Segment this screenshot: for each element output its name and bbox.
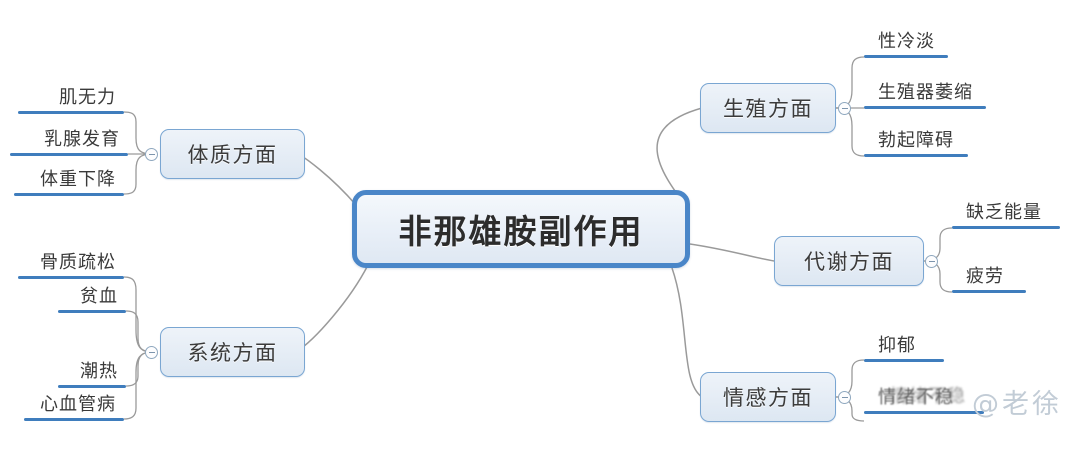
leaf-underline (864, 55, 948, 58)
branch-node-daixie[interactable]: 代谢方面 (774, 236, 924, 286)
collapse-handle-tizhi[interactable] (145, 148, 158, 161)
collapse-handle-xitong[interactable] (145, 346, 158, 359)
leaf-item[interactable]: 潮热 (58, 354, 126, 388)
leaf-label: 抑郁 (878, 331, 916, 357)
leaf-label: 生殖器萎缩 (878, 78, 973, 104)
leaf-underline (18, 111, 124, 114)
link-center-qinggan (672, 268, 702, 397)
leaf-item[interactable]: 骨质疏松 (18, 245, 124, 279)
branch-node-qinggan-label: 情感方面 (723, 382, 813, 412)
link-center-xitong (296, 265, 368, 352)
leaf-label-ghost: 情绪不稳 (890, 382, 966, 408)
leaf-label: 体重下降 (40, 165, 116, 191)
leaf-item[interactable]: 体重下降 (14, 162, 124, 196)
leaf-label: 贫血 (80, 282, 118, 308)
leaf-item[interactable]: 疲劳 (952, 260, 1026, 293)
branch-node-qinggan[interactable]: 情感方面 (700, 372, 836, 422)
link-shengzhi-leaf3 (836, 108, 864, 156)
leaf-underline (864, 411, 984, 414)
leaf-item[interactable]: 勃起障碍 (864, 124, 968, 157)
mindmap-canvas: 非那雄胺副作用 体质方面 肌无力 乳腺发育 体重下降 系统方面 骨质疏松 贫血 … (0, 0, 1080, 450)
link-center-tizhi (300, 155, 356, 205)
leaf-underline (14, 193, 124, 196)
branch-node-xitong-label: 系统方面 (188, 337, 278, 367)
leaf-label: 性冷淡 (878, 27, 935, 53)
leaf-underline (58, 310, 126, 313)
leaf-item[interactable]: 生殖器萎缩 (864, 76, 986, 109)
central-node[interactable]: 非那雄胺副作用 (352, 190, 690, 268)
leaf-label: 肌无力 (59, 83, 116, 109)
leaf-underline (952, 226, 1060, 229)
leaf-item[interactable]: 缺乏能量 (952, 196, 1060, 229)
leaf-label: 心血管病 (40, 390, 116, 416)
leaf-underline (952, 290, 1026, 293)
leaf-label: 疲劳 (966, 262, 1004, 288)
watermark: @老徐 (972, 382, 1062, 421)
collapse-handle-shengzhi[interactable] (838, 102, 851, 115)
branch-node-shengzhi[interactable]: 生殖方面 (700, 83, 836, 133)
leaf-underline (864, 106, 986, 109)
leaf-item[interactable]: 情绪不稳 情绪不稳 (864, 382, 984, 414)
leaf-underline (864, 359, 944, 362)
leaf-item[interactable]: 性冷淡 (864, 25, 948, 58)
leaf-item[interactable]: 抑郁 (864, 330, 944, 362)
leaf-item[interactable]: 乳腺发育 (10, 122, 128, 156)
branch-node-shengzhi-label: 生殖方面 (723, 93, 813, 123)
branch-node-daixie-label: 代谢方面 (804, 246, 894, 276)
leaf-label: 缺乏能量 (966, 198, 1042, 224)
branch-node-xitong[interactable]: 系统方面 (160, 327, 305, 377)
leaf-underline (10, 153, 128, 156)
leaf-label: 骨质疏松 (40, 248, 116, 274)
central-node-label: 非那雄胺副作用 (399, 205, 644, 253)
leaf-underline (24, 418, 124, 421)
branch-node-tizhi-label: 体质方面 (188, 139, 278, 169)
collapse-handle-qinggan[interactable] (838, 391, 851, 404)
leaf-item[interactable]: 肌无力 (18, 80, 124, 114)
leaf-label: 勃起障碍 (878, 126, 954, 152)
branch-node-tizhi[interactable]: 体质方面 (160, 129, 305, 179)
collapse-handle-daixie[interactable] (925, 255, 938, 268)
link-center-daixie (690, 244, 774, 261)
leaf-item[interactable]: 心血管病 (24, 387, 124, 421)
leaf-underline (864, 154, 968, 157)
leaf-label: 潮热 (80, 357, 118, 383)
leaf-label: 乳腺发育 (44, 125, 120, 151)
link-shengzhi-leaf1 (836, 57, 864, 108)
leaf-item[interactable]: 贫血 (58, 279, 126, 313)
